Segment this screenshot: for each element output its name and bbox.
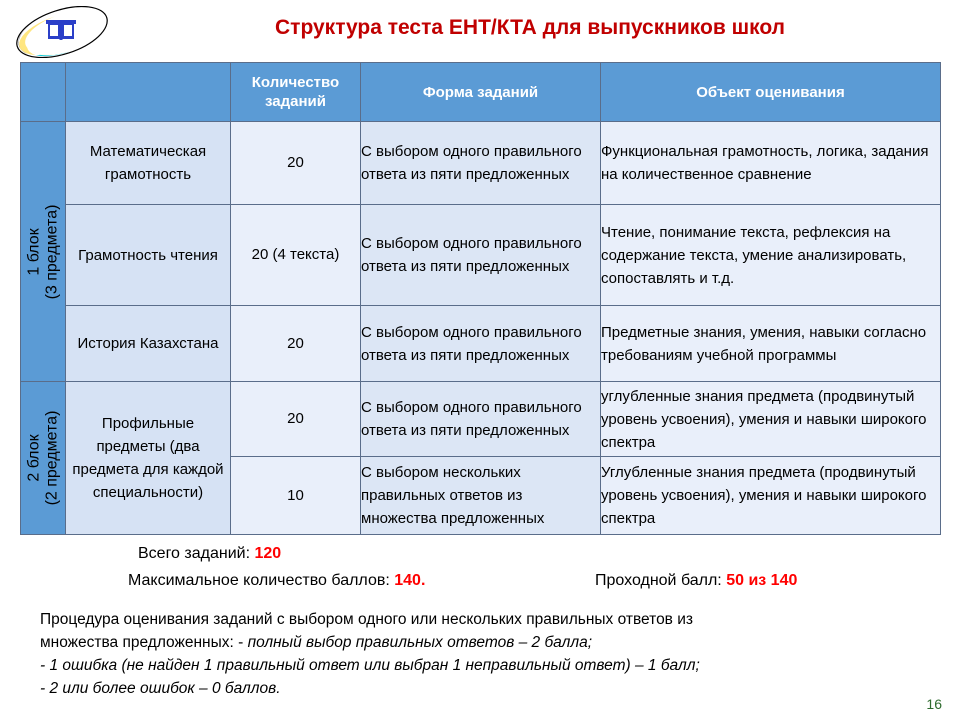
table-row: 1 блок (3 предмета) Математическая грамо… [21, 122, 941, 205]
object-cell: Углубленные знания предмета (продвинутый… [601, 457, 941, 535]
table-row: История Казахстана 20 С выбором одного п… [21, 306, 941, 382]
max-score-line: Максимальное количество баллов: 140. [128, 572, 425, 590]
form-cell: С выбором нескольких правильных ответов … [361, 457, 601, 535]
object-cell: Предметные знания, умения, навыки соглас… [601, 306, 941, 382]
pass-score-label: Проходной балл: [595, 572, 722, 589]
block-label-1-name: 1 блок [25, 228, 43, 275]
footnote-block: Процедура оценивания заданий с выбором о… [40, 608, 930, 700]
total-tasks-value: 120 [254, 545, 281, 562]
table-header-row: Количество заданий Форма заданий Объект … [21, 63, 941, 122]
object-cell: углубленные знания предмета (продвинутый… [601, 382, 941, 457]
footnote-line-2: множества предложенных: - полный выбор п… [40, 631, 930, 654]
subject-cell: Математическая грамотность [66, 122, 231, 205]
total-tasks-label: Всего заданий: [138, 545, 250, 562]
footnote-line-2-italic: полный выбор правильных ответов – 2 балл… [248, 634, 592, 651]
form-cell: С выбором одного правильного ответа из п… [361, 122, 601, 205]
block-label-1-subjects: (3 предмета) [43, 204, 61, 299]
footnote-line-3-italic: - 1 ошибка (не найден 1 правильный ответ… [40, 657, 700, 674]
test-structure-table: Количество заданий Форма заданий Объект … [20, 62, 941, 535]
total-tasks-line: Всего заданий: 120 [138, 545, 281, 563]
subject-cell: Профильные предметы (два предмета для ка… [66, 382, 231, 535]
footnote-line-4: - 2 или более ошибок – 0 баллов. [40, 677, 930, 700]
header-count-col: Количество заданий [231, 63, 361, 122]
header-subject-col [66, 63, 231, 122]
form-cell: С выбором одного правильного ответа из п… [361, 306, 601, 382]
footnote-line-2-plain: множества предложенных: - [40, 634, 248, 651]
block-label-2-subjects: (2 предмета) [43, 411, 61, 506]
header-block-col [21, 63, 66, 122]
form-cell: С выбором одного правильного ответа из п… [361, 382, 601, 457]
table-row: Грамотность чтения 20 (4 текста) С выбор… [21, 205, 941, 306]
count-cell: 20 [231, 382, 361, 457]
footnote-line-4-italic: - 2 или более ошибок – 0 баллов. [40, 680, 281, 697]
header-object-col: Объект оценивания [601, 63, 941, 122]
test-structure-table-wrapper: Количество заданий Форма заданий Объект … [20, 62, 940, 533]
footnote-line-1: Процедура оценивания заданий с выбором о… [40, 608, 930, 631]
header-form-col: Форма заданий [361, 63, 601, 122]
subject-cell: История Казахстана [66, 306, 231, 382]
object-cell: Функциональная грамотность, логика, зада… [601, 122, 941, 205]
count-cell: 20 (4 текста) [231, 205, 361, 306]
organization-logo [8, 6, 116, 58]
count-cell: 20 [231, 306, 361, 382]
count-cell: 20 [231, 122, 361, 205]
subject-cell: Грамотность чтения [66, 205, 231, 306]
pass-score-value: 50 из 140 [726, 572, 797, 589]
slide-title: Структура теста ЕНТ/КТА для выпускников … [130, 16, 930, 40]
block-label-2: 2 блок (2 предмета) [21, 382, 66, 535]
object-cell: Чтение, понимание текста, рефлексия на с… [601, 205, 941, 306]
form-cell: С выбором одного правильного ответа из п… [361, 205, 601, 306]
block-label-2-name: 2 блок [25, 434, 43, 481]
block-label-1: 1 блок (3 предмета) [21, 122, 66, 382]
pass-score-line: Проходной балл: 50 из 140 [595, 572, 797, 590]
footnote-line-3: - 1 ошибка (не найден 1 правильный ответ… [40, 654, 930, 677]
open-book-ellipse-logo [8, 6, 116, 58]
table-row: 2 блок (2 предмета) Профильные предметы … [21, 382, 941, 457]
max-score-label: Максимальное количество баллов: [128, 572, 390, 589]
count-cell: 10 [231, 457, 361, 535]
max-score-value: 140. [394, 572, 425, 589]
page-number: 16 [926, 696, 942, 712]
